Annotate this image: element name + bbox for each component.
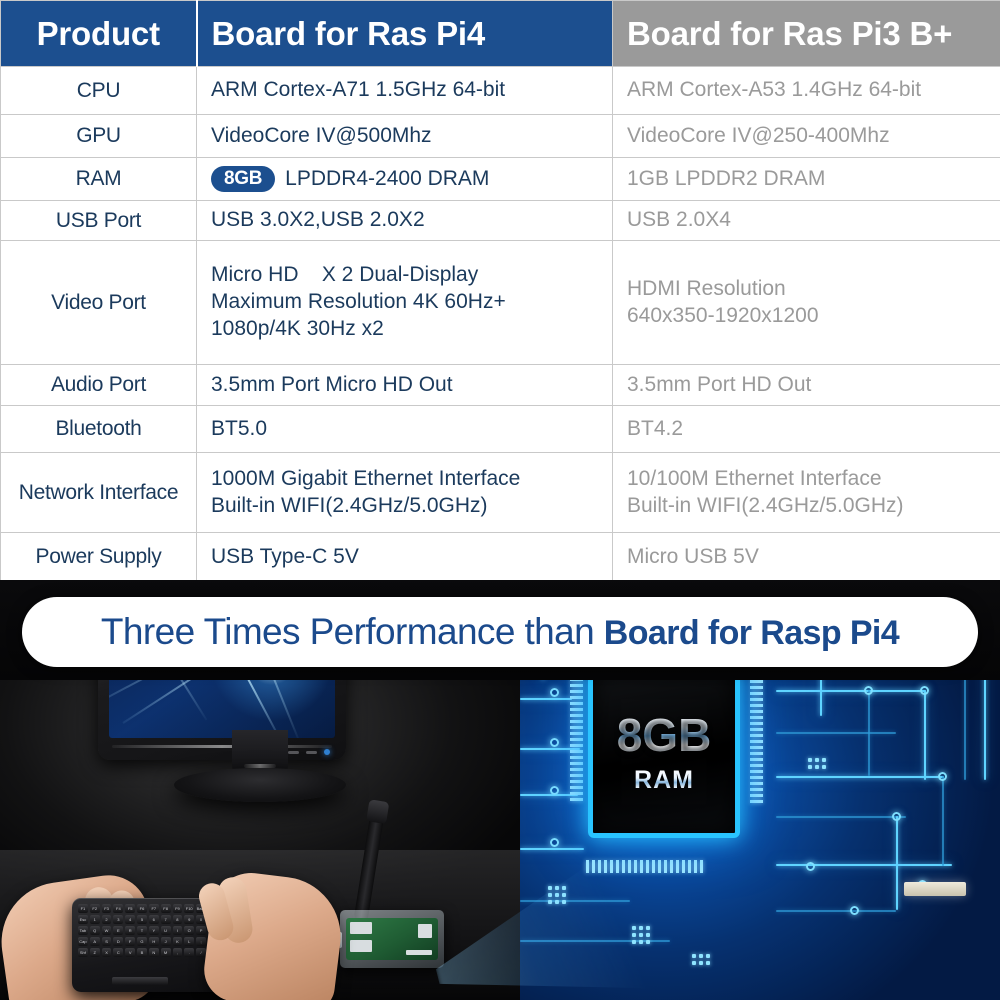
via-dots-bottom <box>692 954 710 965</box>
cell-pi4-cpu: ARM Cortex-A71 1.5GHz 64-bit <box>197 67 613 115</box>
key-f8[interactable]: F8 <box>161 904 171 913</box>
table-row: Audio Port 3.5mm Port Micro HD Out 3.5mm… <box>1 365 1000 406</box>
key-o[interactable]: O <box>184 926 194 935</box>
cell-pi4-power-supply: USB Type-C 5V <box>197 533 613 582</box>
key-s[interactable]: S <box>102 937 112 946</box>
key-m[interactable]: M <box>161 948 171 957</box>
header-product: Product <box>1 1 197 67</box>
key-t[interactable]: T <box>137 926 147 935</box>
key-z[interactable]: Z <box>90 948 100 957</box>
key-f1[interactable]: F1 <box>78 904 88 913</box>
header-board-pi3: Board for Ras Pi3 B+ <box>613 1 1000 67</box>
key-p[interactable]: P <box>196 926 206 935</box>
cell-pi4-ram: 8GBLPDDR4-2400 DRAM <box>197 158 613 201</box>
key-4[interactable]: 4 <box>125 915 135 924</box>
via-dots-right <box>808 758 826 769</box>
table-row: USB Port USB 3.0X2,USB 2.0X2 USB 2.0X4 <box>1 201 1000 241</box>
key-f10[interactable]: F10 <box>184 904 194 913</box>
chip-ram-label: RAM <box>634 768 694 793</box>
key-;[interactable]: ; <box>196 937 206 946</box>
table-row: RAM 8GBLPDDR4-2400 DRAM 1GB LPDDR2 DRAM <box>1 158 1000 201</box>
key-cap[interactable]: Cap <box>78 937 88 946</box>
cell-pi3-video-port: HDMI Resolution640x350-1920x1200 <box>613 241 1000 365</box>
key-f2[interactable]: F2 <box>90 904 100 913</box>
pin-comb-left <box>570 672 583 801</box>
row-label-ram: RAM <box>1 158 197 201</box>
table-row: CPU ARM Cortex-A71 1.5GHz 64-bit ARM Cor… <box>1 67 1000 115</box>
table-row: Network Interface 1000M Gigabit Ethernet… <box>1 453 1000 533</box>
cell-pi3-usb-port: USB 2.0X4 <box>613 201 1000 241</box>
pin-comb-right <box>750 662 763 803</box>
key-tab[interactable]: Tab <box>78 926 88 935</box>
table-row: Bluetooth BT5.0 BT4.2 <box>1 406 1000 453</box>
key-f4[interactable]: F4 <box>113 904 123 913</box>
key-k[interactable]: K <box>173 937 183 946</box>
keyboard-keys: F1F2F3F4F5F6F7F8F9F10Back Esc1234567890 … <box>78 904 206 959</box>
key-f5[interactable]: F5 <box>125 904 135 913</box>
banner-headline: Three Times Performance than Board for R… <box>101 611 899 653</box>
pin-comb-bottom <box>586 860 703 873</box>
table-row: Power Supply USB Type-C 5V Micro USB 5V <box>1 533 1000 582</box>
key-b[interactable]: B <box>137 948 147 957</box>
key-3[interactable]: 3 <box>113 915 123 924</box>
key-a[interactable]: A <box>90 937 100 946</box>
key-c[interactable]: C <box>113 948 123 957</box>
key-row-4: CapASDFGHJKL; <box>78 937 206 946</box>
cell-pi3-gpu: VideoCore IV@250-400Mhz <box>613 115 1000 158</box>
banner-strip: Three Times Performance than Board for R… <box>0 580 1000 680</box>
key-v[interactable]: V <box>125 948 135 957</box>
key-g[interactable]: G <box>137 937 147 946</box>
spec-comparison-table: Product Board for Ras Pi4 Board for Ras … <box>0 0 1000 582</box>
row-label-bluetooth: Bluetooth <box>1 406 197 453</box>
cell-pi4-usb-port: USB 3.0X2,USB 2.0X2 <box>197 201 613 241</box>
monitor-base <box>174 768 346 802</box>
key-2[interactable]: 2 <box>102 915 112 924</box>
product-comparison-page: Product Board for Ras Pi4 Board for Ras … <box>0 0 1000 1000</box>
key-esc[interactable]: Esc <box>78 915 88 924</box>
key-,[interactable]: , <box>173 948 183 957</box>
row-label-audio-port: Audio Port <box>1 365 197 406</box>
key-e[interactable]: E <box>113 926 123 935</box>
memory-chip: 8GB RAM <box>588 666 740 838</box>
cell-pi3-ram: 1GB LPDDR2 DRAM <box>613 158 1000 201</box>
table-row: GPU VideoCore IV@500Mhz VideoCore IV@250… <box>1 115 1000 158</box>
key-6[interactable]: 6 <box>149 915 159 924</box>
row-label-video-port: Video Port <box>1 241 197 365</box>
row-label-cpu: CPU <box>1 67 197 115</box>
key-n[interactable]: N <box>149 948 159 957</box>
key-f3[interactable]: F3 <box>102 904 112 913</box>
pcb <box>346 918 438 960</box>
banner-headline-main: Three Times Performance than <box>101 611 604 652</box>
key-1[interactable]: 1 <box>90 915 100 924</box>
key-u[interactable]: U <box>161 926 171 935</box>
table-header-row: Product Board for Ras Pi4 Board for Ras … <box>1 1 1000 67</box>
key-d[interactable]: D <box>113 937 123 946</box>
row-label-gpu: GPU <box>1 115 197 158</box>
key-7[interactable]: 7 <box>161 915 171 924</box>
key-.[interactable]: . <box>184 948 194 957</box>
cell-pi4-audio-port: 3.5mm Port Micro HD Out <box>197 365 613 406</box>
table-row: Video Port Micro HD X 2 Dual-DisplayMaxi… <box>1 241 1000 365</box>
key-f[interactable]: F <box>125 937 135 946</box>
key-row-2: Esc1234567890 <box>78 915 206 924</box>
key-y[interactable]: Y <box>149 926 159 935</box>
key-5[interactable]: 5 <box>137 915 147 924</box>
key-row-5: ShfZXCVBNM,./ <box>78 948 206 957</box>
raspberry-pi-board <box>340 910 444 968</box>
banner-headline-bold: Board for Rasp Pi4 <box>604 614 899 652</box>
key-i[interactable]: I <box>173 926 183 935</box>
cell-pi3-cpu: ARM Cortex-A53 1.4GHz 64-bit <box>613 67 1000 115</box>
cell-pi4-gpu: VideoCore IV@500Mhz <box>197 115 613 158</box>
key-r[interactable]: R <box>125 926 135 935</box>
chip-capacity-label: 8GB <box>617 712 712 758</box>
key-row-1: F1F2F3F4F5F6F7F8F9F10Back <box>78 904 206 913</box>
banner-pill: Three Times Performance than Board for R… <box>22 597 978 667</box>
via-dots-left <box>548 886 566 904</box>
cell-pi4-bluetooth: BT5.0 <box>197 406 613 453</box>
key-w[interactable]: W <box>102 926 112 935</box>
monitor-bottom-strip <box>112 745 332 748</box>
row-label-network-interface: Network Interface <box>1 453 197 533</box>
key-f7[interactable]: F7 <box>149 904 159 913</box>
row-label-power-supply: Power Supply <box>1 533 197 582</box>
key-shf[interactable]: Shf <box>78 948 88 957</box>
key-x[interactable]: X <box>102 948 112 957</box>
cell-pi4-video-port: Micro HD X 2 Dual-DisplayMaximum Resolut… <box>197 241 613 365</box>
row-label-usb-port: USB Port <box>1 201 197 241</box>
key-f6[interactable]: F6 <box>137 904 147 913</box>
key-f9[interactable]: F9 <box>173 904 183 913</box>
key-9[interactable]: 9 <box>184 915 194 924</box>
cell-pi4-network-interface: 1000M Gigabit Ethernet InterfaceBuilt-in… <box>197 453 613 533</box>
power-led-icon <box>324 749 330 755</box>
smd-component <box>904 882 966 896</box>
cell-pi3-audio-port: 3.5mm Port HD Out <box>613 365 1000 406</box>
key-l[interactable]: L <box>184 937 194 946</box>
key-8[interactable]: 8 <box>173 915 183 924</box>
cell-pi4-ram-text: LPDDR4-2400 DRAM <box>285 167 489 190</box>
cell-pi3-power-supply: Micro USB 5V <box>613 533 1000 582</box>
badge-8gb: 8GB <box>211 166 275 193</box>
header-board-pi4: Board for Ras Pi4 <box>197 1 613 67</box>
key-/[interactable]: / <box>196 948 206 957</box>
key-q[interactable]: Q <box>90 926 100 935</box>
key-h[interactable]: H <box>149 937 159 946</box>
key-j[interactable]: J <box>161 937 171 946</box>
key-row-3: TabQWERTYUIOP <box>78 926 206 935</box>
cell-pi3-network-interface: 10/100M Ethernet InterfaceBuilt-in WIFI(… <box>613 453 1000 533</box>
via-dots-mid <box>632 926 650 944</box>
spacebar-key[interactable] <box>112 977 168 985</box>
cell-pi3-bluetooth: BT4.2 <box>613 406 1000 453</box>
